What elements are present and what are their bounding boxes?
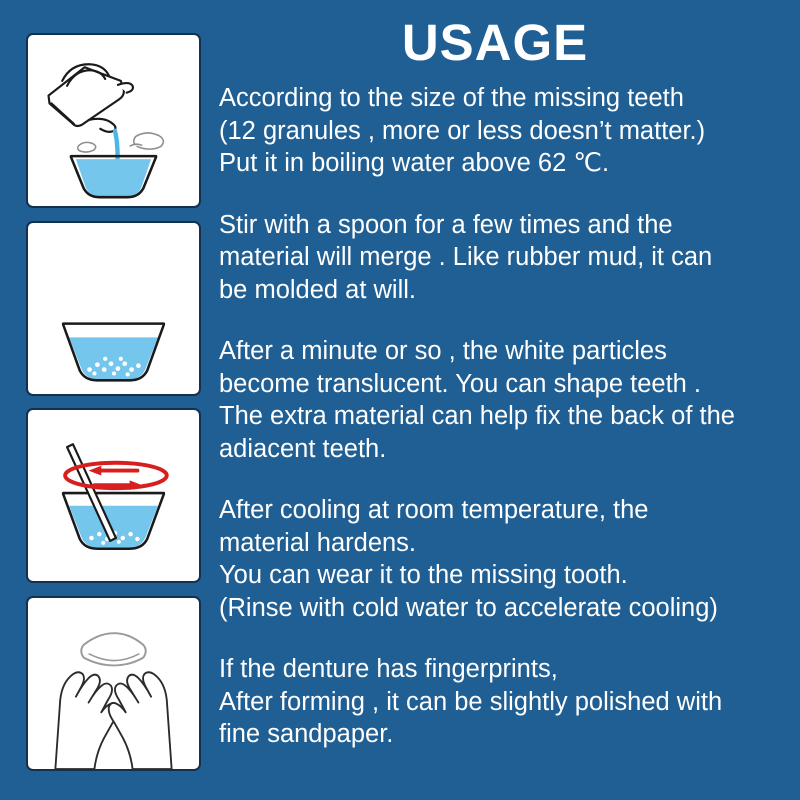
instruction-paragraph-5: If the denture has fingerprints, After f…	[219, 653, 789, 751]
page-title: USAGE	[210, 14, 780, 72]
instruction-line: After cooling at room temperature, the	[219, 496, 648, 524]
instruction-line: You can wear it to the missing tooth.	[219, 561, 628, 589]
instruction-line: adiacent teeth.	[219, 435, 386, 463]
illustration-panel-4	[26, 596, 201, 771]
instruction-line: According to the size of the missing tee…	[219, 84, 684, 112]
instruction-paragraph-1: According to the size of the missing tee…	[219, 82, 789, 180]
instruction-paragraph-2: Stir with a spoon for a few times and th…	[219, 209, 789, 307]
illustration-panel-1	[26, 33, 201, 208]
instruction-line: material will merge . Like rubber mud, i…	[219, 243, 712, 271]
illustration-panel-column	[26, 33, 201, 771]
instruction-line: Stir with a spoon for a few times and th…	[219, 211, 673, 239]
kettle-pouring-into-bowl-icon	[28, 35, 199, 206]
instruction-line: The extra material can help fix the back…	[219, 402, 735, 430]
instruction-paragraph-3: After a minute or so , the white particl…	[219, 335, 789, 465]
instruction-line: (12 granules , more or less doesn’t matt…	[219, 117, 705, 145]
instruction-line: If the denture has fingerprints,	[219, 655, 558, 683]
instruction-line: fine sandpaper.	[219, 720, 393, 748]
instruction-line: After forming , it can be slightly polis…	[219, 688, 722, 716]
instruction-text-column: According to the size of the missing tee…	[219, 82, 789, 751]
instruction-line: material hardens.	[219, 529, 416, 557]
illustration-panel-2	[26, 221, 201, 396]
usage-instruction-poster: USAGE According to the size of the missi…	[0, 0, 800, 800]
instruction-line: be molded at will.	[219, 276, 416, 304]
instruction-line: Put it in boiling water above 62 ℃.	[219, 149, 609, 177]
instruction-line: After a minute or so , the white particl…	[219, 337, 667, 365]
instruction-paragraph-4: After cooling at room temperature, the m…	[219, 494, 789, 624]
stirring-rod-bowl-icon	[28, 410, 199, 581]
instruction-line: (Rinse with cold water to accelerate coo…	[219, 594, 718, 622]
bowl-with-granules-icon	[28, 223, 199, 394]
instruction-line: become translucent. You can shape teeth …	[219, 370, 701, 398]
hands-molding-denture-icon	[28, 598, 199, 769]
illustration-panel-3	[26, 408, 201, 583]
